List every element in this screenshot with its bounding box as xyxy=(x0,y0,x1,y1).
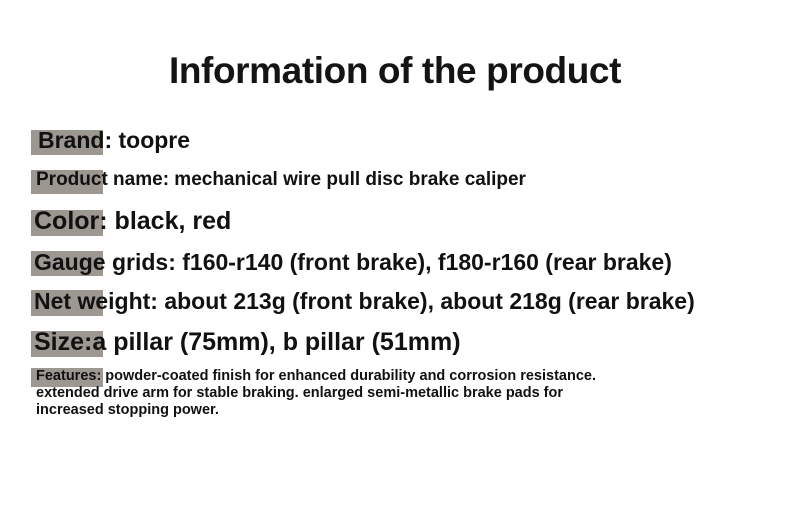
features-line: extended drive arm for stable braking. e… xyxy=(36,385,731,402)
spec-text-features: Features: powder-coated finish for enhan… xyxy=(31,368,731,419)
page-title: Information of the product xyxy=(0,50,790,92)
spec-row-brand: Brand: toopre xyxy=(31,127,190,154)
spec-text-size: Size:a pillar (75mm), b pillar (51mm) xyxy=(31,328,461,357)
spec-text-net-weight: Net weight: about 213g (front brake), ab… xyxy=(31,288,695,315)
spec-row-size: Size:a pillar (75mm), b pillar (51mm) xyxy=(31,328,461,357)
spec-text-gauge-grids: Gauge grids: f160-r140 (front brake), f1… xyxy=(31,249,672,276)
features-line: increased stopping power. xyxy=(36,402,731,419)
spec-text-brand: Brand: toopre xyxy=(31,127,190,154)
spec-row-gauge-grids: Gauge grids: f160-r140 (front brake), f1… xyxy=(31,249,672,276)
product-info-sheet: Information of the product Brand: toopre… xyxy=(0,0,790,520)
spec-row-net-weight: Net weight: about 213g (front brake), ab… xyxy=(31,288,695,315)
features-line: Features: powder-coated finish for enhan… xyxy=(36,368,731,385)
spec-row-product-name: Product name: mechanical wire pull disc … xyxy=(31,169,526,191)
spec-row-color: Color: black, red xyxy=(31,207,231,236)
spec-text-product-name: Product name: mechanical wire pull disc … xyxy=(31,169,526,191)
spec-row-features: Features: powder-coated finish for enhan… xyxy=(31,368,731,419)
spec-text-color: Color: black, red xyxy=(31,207,231,236)
